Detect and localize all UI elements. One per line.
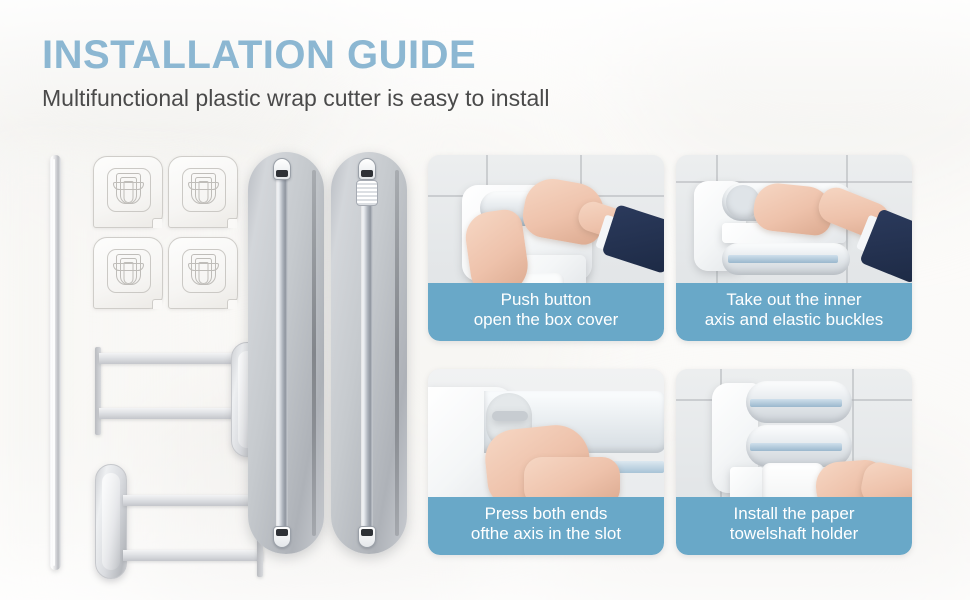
step-panel-3: Press both ends ofthe axis in the slot xyxy=(428,369,664,555)
hook-clip-icon xyxy=(191,173,216,208)
caption-line: towelshaft holder xyxy=(682,524,906,545)
rail-knob-bottom xyxy=(273,526,291,548)
hook-clip-icon xyxy=(191,254,216,289)
bracket-arm xyxy=(123,550,263,561)
rail-knob-top xyxy=(358,158,376,180)
page-title: INSTALLATION GUIDE xyxy=(42,34,550,76)
upper-film-edge xyxy=(750,399,842,407)
dispenser-body-right xyxy=(331,152,407,554)
sticker-corner-tab xyxy=(152,299,162,309)
sticker-corner-tab xyxy=(152,218,162,228)
caption-line: Push button xyxy=(434,290,658,311)
step-panel-4: Install the paper towelshaft holder xyxy=(676,369,912,555)
caption-line: Take out the inner xyxy=(682,290,906,311)
bracket-end-cap xyxy=(95,464,127,579)
bracket-arm xyxy=(99,408,237,419)
caption-line: Press both ends xyxy=(434,504,658,525)
header: INSTALLATION GUIDE Multifunctional plast… xyxy=(42,34,550,113)
rail-knob-bottom xyxy=(358,526,376,548)
body-side-edge xyxy=(312,170,316,536)
adhesive-hook-sticker xyxy=(168,156,238,228)
cutter-rail xyxy=(361,166,373,540)
sticker-corner-tab xyxy=(227,299,237,309)
page-subtitle: Multifunctional plastic wrap cutter is e… xyxy=(42,85,550,113)
rail-grip-ridges xyxy=(356,180,378,206)
lower-film-edge xyxy=(750,443,842,451)
caption-line: ofthe axis in the slot xyxy=(434,524,658,545)
step-caption-4: Install the paper towelshaft holder xyxy=(676,497,912,555)
dispenser-body-left xyxy=(248,152,324,554)
step-panel-1: Push button open the box cover xyxy=(428,155,664,341)
cutting-rod-part xyxy=(50,155,61,570)
bracket-arm xyxy=(123,495,263,506)
caption-line: Install the paper xyxy=(682,504,906,525)
step-panel-2: Take out the inner axis and elastic buck… xyxy=(676,155,912,341)
installation-guide-page: INSTALLATION GUIDE Multifunctional plast… xyxy=(0,0,970,600)
adhesive-hook-sticker xyxy=(93,156,163,228)
hook-clip-icon xyxy=(116,254,141,289)
rail-knob-top xyxy=(273,158,291,180)
adhesive-hook-sticker xyxy=(168,237,238,309)
hook-clip-icon xyxy=(116,173,141,208)
step-caption-2: Take out the inner axis and elastic buck… xyxy=(676,283,912,341)
sticker-corner-tab xyxy=(227,218,237,228)
caption-line: axis and elastic buckles xyxy=(682,310,906,331)
adhesive-hook-sticker xyxy=(93,237,163,309)
body-side-edge xyxy=(395,170,399,536)
bracket-arm xyxy=(99,353,237,364)
caption-line: open the box cover xyxy=(434,310,658,331)
film-edge xyxy=(728,255,838,263)
cutter-rail xyxy=(276,166,288,540)
step-caption-3: Press both ends ofthe axis in the slot xyxy=(428,497,664,555)
axis-spoke xyxy=(492,411,528,421)
step-caption-1: Push button open the box cover xyxy=(428,283,664,341)
